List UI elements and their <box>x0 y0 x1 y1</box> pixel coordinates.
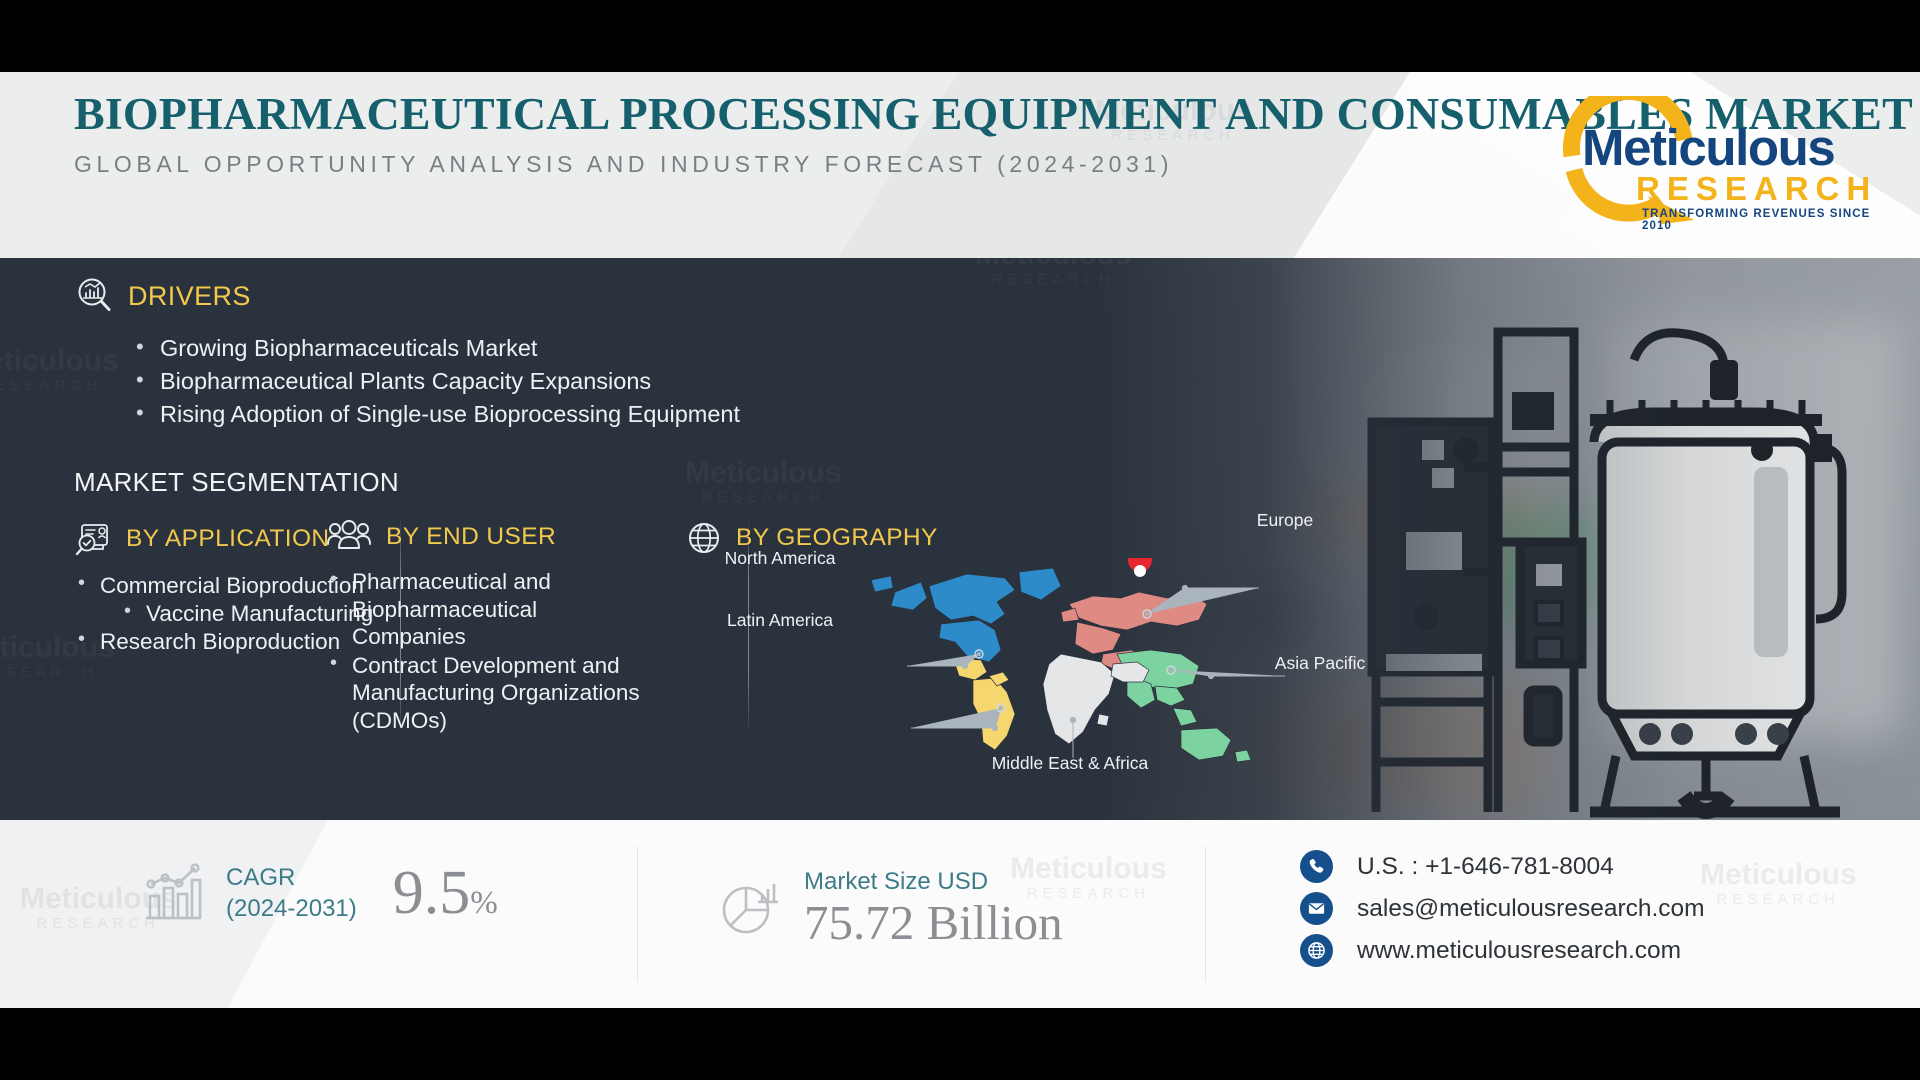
watermark: Meticulous RESEARCH <box>685 458 842 505</box>
list-item-label: Commercial Bioproduction <box>100 573 364 598</box>
market-size-text: Market Size USD 75.72 Billion <box>804 866 1063 948</box>
drivers-section: DRIVERS Growing Biopharmaceuticals Marke… <box>74 276 740 431</box>
map-region-north-america <box>871 568 1061 662</box>
end-user-list: Pharmaceutical and Biopharmaceutical Com… <box>326 568 646 734</box>
infographic-page: Meticulous RESEARCH BIOPHARMACEUTICAL PR… <box>0 0 1920 1080</box>
contact-website: www.meticulousresearch.com <box>1357 937 1681 965</box>
brand-logo[interactable]: Meticulous RESEARCH TRANSFORMING REVENUE… <box>1544 96 1896 228</box>
phone-icon <box>1300 850 1333 883</box>
contact-row-phone[interactable]: U.S. : +1-646-781-8004 <box>1300 850 1705 883</box>
market-size-block: Market Size USD 75.72 Billion <box>718 866 1063 948</box>
market-size-value: 75.72 Billion <box>804 897 1063 948</box>
map-label-middle-east-africa: Middle East & Africa <box>945 753 1195 773</box>
logo-wordmark: Meticulous <box>1582 118 1834 177</box>
list-item: Rising Adoption of Single-use Bioprocess… <box>136 398 740 431</box>
users-group-icon <box>326 520 372 554</box>
bar-chart-growth-icon <box>140 862 204 924</box>
main-content: Meticulous RESEARCH Meticulous RESEARCH … <box>0 258 1920 820</box>
application-title: BY APPLICATION <box>126 525 330 553</box>
segment-column-end-user: BY END USER Pharmaceutical and Biopharma… <box>326 520 646 735</box>
logo-tagline: TRANSFORMING REVENUES SINCE 2010 <box>1642 208 1896 232</box>
magnifier-chart-icon <box>74 276 114 316</box>
contact-row-website[interactable]: www.meticulousresearch.com <box>1300 934 1705 967</box>
segmentation-heading: MARKET SEGMENTATION <box>74 467 399 498</box>
end-user-heading-row: BY END USER <box>326 520 646 554</box>
list-item: Pharmaceutical and Biopharmaceutical Com… <box>326 568 646 651</box>
pie-chart-icon <box>718 876 782 938</box>
map-label-europe: Europe <box>1230 510 1340 530</box>
footer-divider <box>1205 846 1206 982</box>
market-size-label: Market Size USD <box>804 866 1063 897</box>
logo-subwordmark: RESEARCH <box>1636 170 1877 208</box>
letterbox-top <box>0 0 1920 72</box>
cagr-label-line2: (2024-2031) <box>226 893 357 924</box>
map-label-north-america: North America <box>720 548 840 568</box>
cagr-value-group: 9.5% <box>393 862 498 924</box>
list-item: Growing Biopharmaceuticals Market <box>136 332 740 365</box>
cagr-label: CAGR (2024-2031) <box>226 862 357 924</box>
contact-row-email[interactable]: sales@meticulousresearch.com <box>1300 892 1705 925</box>
map-label-asia-pacific: Asia Pacific <box>1265 653 1375 673</box>
globe-icon <box>1300 934 1333 967</box>
contact-email: sales@meticulousresearch.com <box>1357 895 1705 923</box>
cagr-label-line1: CAGR <box>226 862 357 893</box>
watermark: Meticulous RESEARCH <box>1700 860 1857 907</box>
letterbox-bottom <box>0 1008 1920 1080</box>
drivers-heading-row: DRIVERS <box>74 276 740 316</box>
world-map: North America Latin America Europe Asia … <box>855 558 1325 768</box>
cagr-unit: % <box>470 885 498 921</box>
end-user-title: BY END USER <box>386 523 556 551</box>
document-search-icon <box>74 520 112 558</box>
drivers-title: DRIVERS <box>128 281 251 312</box>
list-item: Contract Development and Manufacturing O… <box>326 652 646 735</box>
contact-phone: U.S. : +1-646-781-8004 <box>1357 853 1614 881</box>
location-pin-icon <box>1128 558 1152 594</box>
cagr-value: 9.5 <box>393 859 471 927</box>
list-item: Biopharmaceutical Plants Capacity Expans… <box>136 365 740 398</box>
drivers-list: Growing Biopharmaceuticals Market Biopha… <box>136 332 740 431</box>
contact-block: U.S. : +1-646-781-8004 sales@meticulousr… <box>1300 850 1705 976</box>
footer-divider <box>637 846 638 982</box>
watermark: Meticulous RESEARCH <box>975 258 1132 287</box>
main-panel: Meticulous RESEARCH Meticulous RESEARCH … <box>0 258 1920 820</box>
map-region-latin-america <box>953 658 1015 750</box>
cagr-block: CAGR (2024-2031) 9.5% <box>140 862 498 924</box>
globe-icon <box>686 520 722 556</box>
world-map-svg <box>855 558 1325 768</box>
map-label-latin-america: Latin America <box>720 610 840 630</box>
mail-icon <box>1300 892 1333 925</box>
